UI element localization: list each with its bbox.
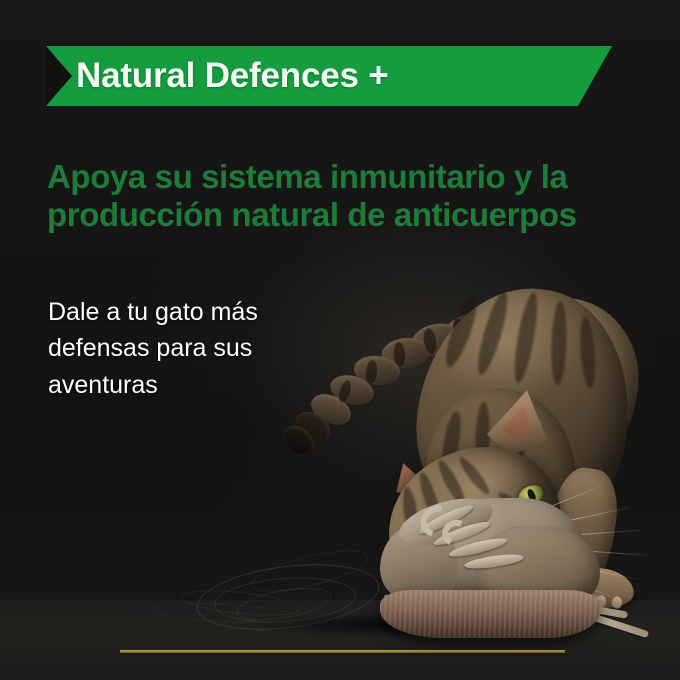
- body-copy-line-2: defensas para sus: [48, 330, 328, 366]
- body-copy: Dale a tu gato más defensas para sus ave…: [48, 294, 328, 403]
- shoe-sole: [380, 590, 602, 638]
- gold-rule: [120, 650, 565, 653]
- page-title: Apoya su sistema inmunitario y la produc…: [47, 158, 647, 235]
- body-copy-line-1: Dale a tu gato más: [48, 294, 328, 330]
- headline-line-2: producción natural de anticuerpos: [47, 196, 647, 234]
- advertisement-banner: Natural Defences + Apoya su sistema inmu…: [0, 0, 680, 680]
- body-copy-line-3: aventuras: [48, 367, 328, 403]
- canvas-sneaker: [380, 498, 602, 640]
- banner-title: Natural Defences +: [76, 46, 389, 106]
- headline-line-1: Apoya su sistema inmunitario y la: [47, 158, 647, 196]
